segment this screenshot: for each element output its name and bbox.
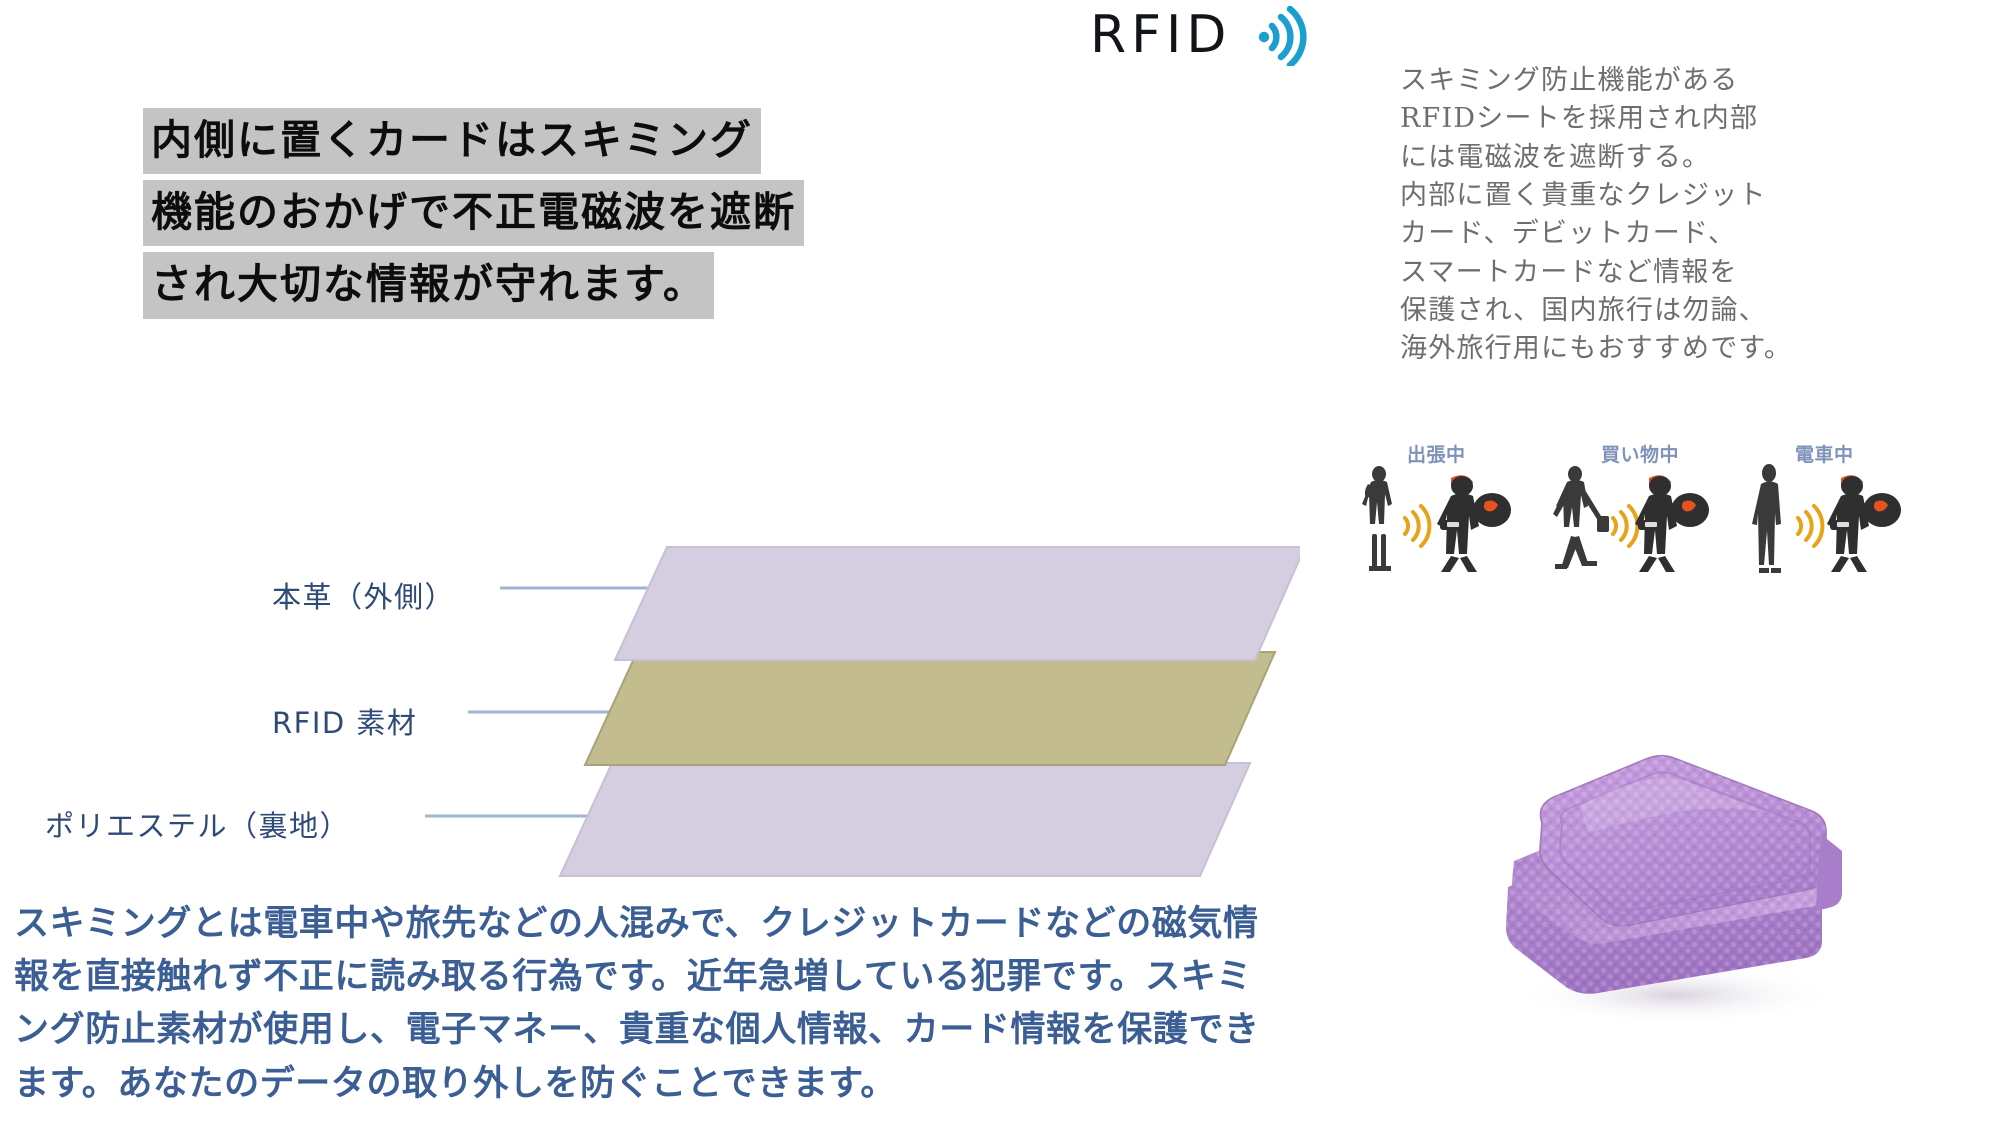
scenario-row: 出張中 bbox=[1355, 440, 1915, 580]
layer-sheet-polyester bbox=[560, 763, 1250, 876]
layer-sheet-leather bbox=[615, 547, 1300, 660]
layer-label-leather: 本革（外側） bbox=[272, 574, 455, 616]
scenario-business-trip: 出張中 bbox=[1355, 440, 1525, 580]
scenario-on-train: 電車中 bbox=[1743, 440, 1913, 580]
rfid-wave-icon bbox=[1253, 4, 1315, 66]
headline-block: 内側に置くカードはスキミング 機能のおかげで不正電磁波を遮断 され大切な情報が守… bbox=[143, 108, 804, 319]
rfid-wordmark: RFID bbox=[1090, 9, 1231, 61]
layer-sheet-rfid bbox=[585, 652, 1275, 765]
headline-line-1: 内側に置くカードはスキミング bbox=[143, 108, 761, 174]
headline-line-2: 機能のおかげで不正電磁波を遮断 bbox=[143, 180, 804, 246]
skimming-explanation-paragraph: スキミングとは電車中や旅先などの人混みで、クレジットカードなどの磁気情 報を直接… bbox=[14, 898, 1454, 1111]
woman-shopping-with-thief-icon bbox=[1549, 460, 1719, 578]
man-standing-with-thief-icon bbox=[1743, 460, 1913, 578]
intro-paragraph: スキミング防止機能がある RFIDシートを採用され内部 には電磁波を遮断する。 … bbox=[1400, 62, 1975, 369]
rfid-brand-lockup: RFID bbox=[1090, 4, 1315, 66]
layer-label-rfid: RFID 素材 bbox=[272, 700, 417, 742]
infographic-canvas: RFID 内側に置くカードはスキミング 機能のおかげで不正電磁波を遮断 され大切… bbox=[0, 0, 2000, 1144]
wallet-product-photo bbox=[1470, 655, 1870, 1035]
scenario-shopping: 買い物中 bbox=[1549, 440, 1719, 580]
layer-label-polyester: ポリエステル（裏地） bbox=[45, 803, 350, 845]
woman-standing-with-thief-icon bbox=[1355, 460, 1525, 578]
headline-line-3: され大切な情報が守れます。 bbox=[143, 252, 714, 318]
